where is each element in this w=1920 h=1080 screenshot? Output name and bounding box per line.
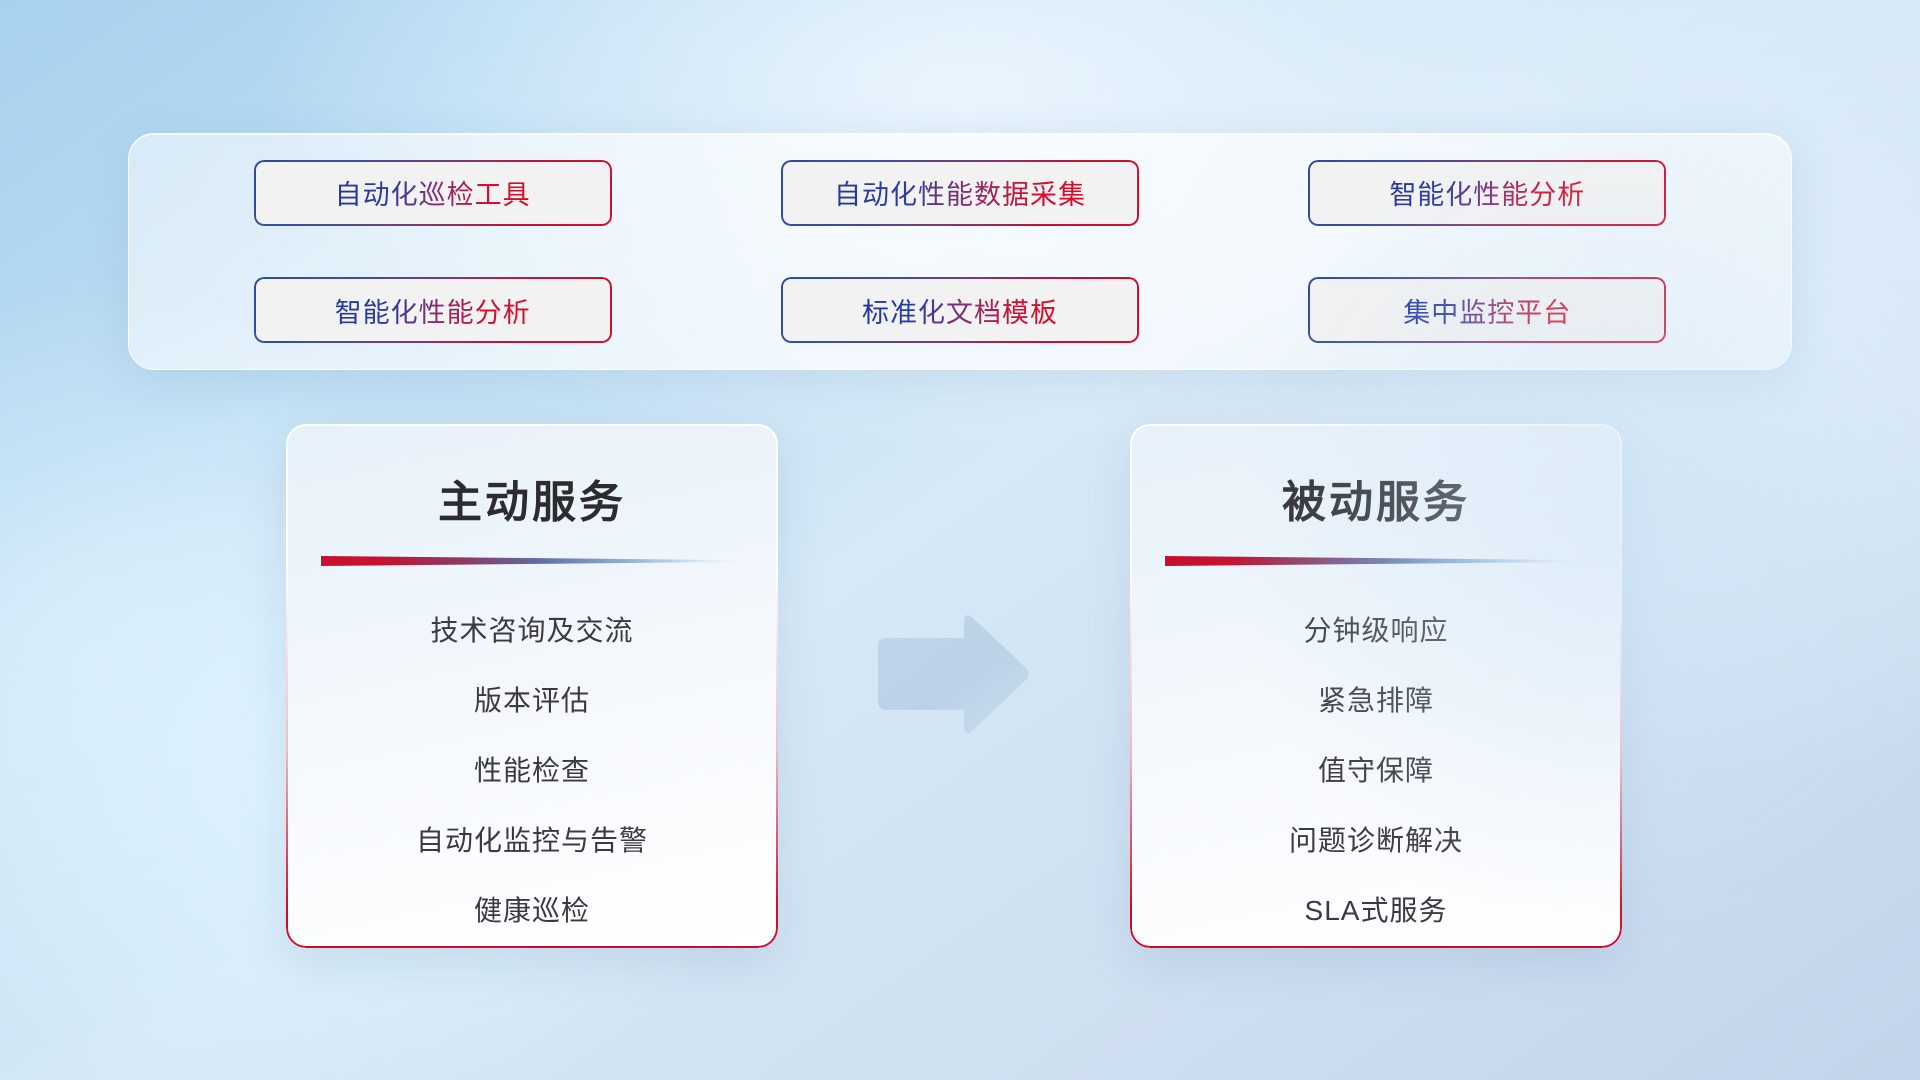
title-divider (1165, 556, 1587, 566)
capability-tag[interactable]: 智能化性能分析 (254, 277, 612, 343)
arrow-right-icon (872, 610, 1032, 738)
capability-tag-label: 智能化性能分析 (335, 291, 531, 330)
service-list-item: 分钟级响应 (1130, 596, 1622, 666)
capability-tag[interactable]: 智能化性能分析 (1308, 160, 1666, 226)
service-list-item: 性能检查 (286, 736, 778, 806)
capability-tag-label: 标准化文档模板 (862, 291, 1058, 330)
capability-tag-label: 自动化性能数据采集 (834, 173, 1086, 212)
service-list-item: 健康巡检 (286, 876, 778, 946)
capability-tag[interactable]: 自动化巡检工具 (254, 160, 612, 226)
capability-tag-label: 自动化巡检工具 (335, 173, 531, 212)
title-divider (321, 556, 743, 566)
service-item-list: 技术咨询及交流 版本评估 性能检查 自动化监控与告警 健康巡检 (286, 596, 778, 946)
service-card-title: 主动服务 (286, 466, 778, 530)
capability-tag[interactable]: 集中监控平台 (1308, 277, 1666, 343)
service-card-title: 被动服务 (1130, 466, 1622, 530)
capability-tag[interactable]: 自动化性能数据采集 (781, 160, 1139, 226)
service-list-item: 技术咨询及交流 (286, 596, 778, 666)
service-item-list: 分钟级响应 紧急排障 值守保障 问题诊断解决 SLA式服务 (1130, 596, 1622, 946)
capability-tags-panel: 自动化巡检工具 自动化性能数据采集 智能化性能分析 智能化性能分析 标准化文档模… (128, 133, 1792, 370)
slide-canvas: 自动化巡检工具 自动化性能数据采集 智能化性能分析 智能化性能分析 标准化文档模… (0, 0, 1920, 1080)
service-list-item: SLA式服务 (1130, 876, 1622, 946)
capability-tag[interactable]: 标准化文档模板 (781, 277, 1139, 343)
service-list-item: 紧急排障 (1130, 666, 1622, 736)
service-list-item: 自动化监控与告警 (286, 806, 778, 876)
service-list-item: 版本评估 (286, 666, 778, 736)
service-card-reactive: 被动服务 分钟级响应 紧急排障 值守保障 问题诊断解决 SLA式服务 (1130, 424, 1622, 948)
capability-tag-label: 集中监控平台 (1403, 291, 1571, 330)
service-list-item: 问题诊断解决 (1130, 806, 1622, 876)
capability-tag-label: 智能化性能分析 (1389, 173, 1585, 212)
service-card-proactive: 主动服务 技术咨询及交流 版本评估 性能检查 自动化监控与告警 健康巡检 (286, 424, 778, 948)
service-list-item: 值守保障 (1130, 736, 1622, 806)
